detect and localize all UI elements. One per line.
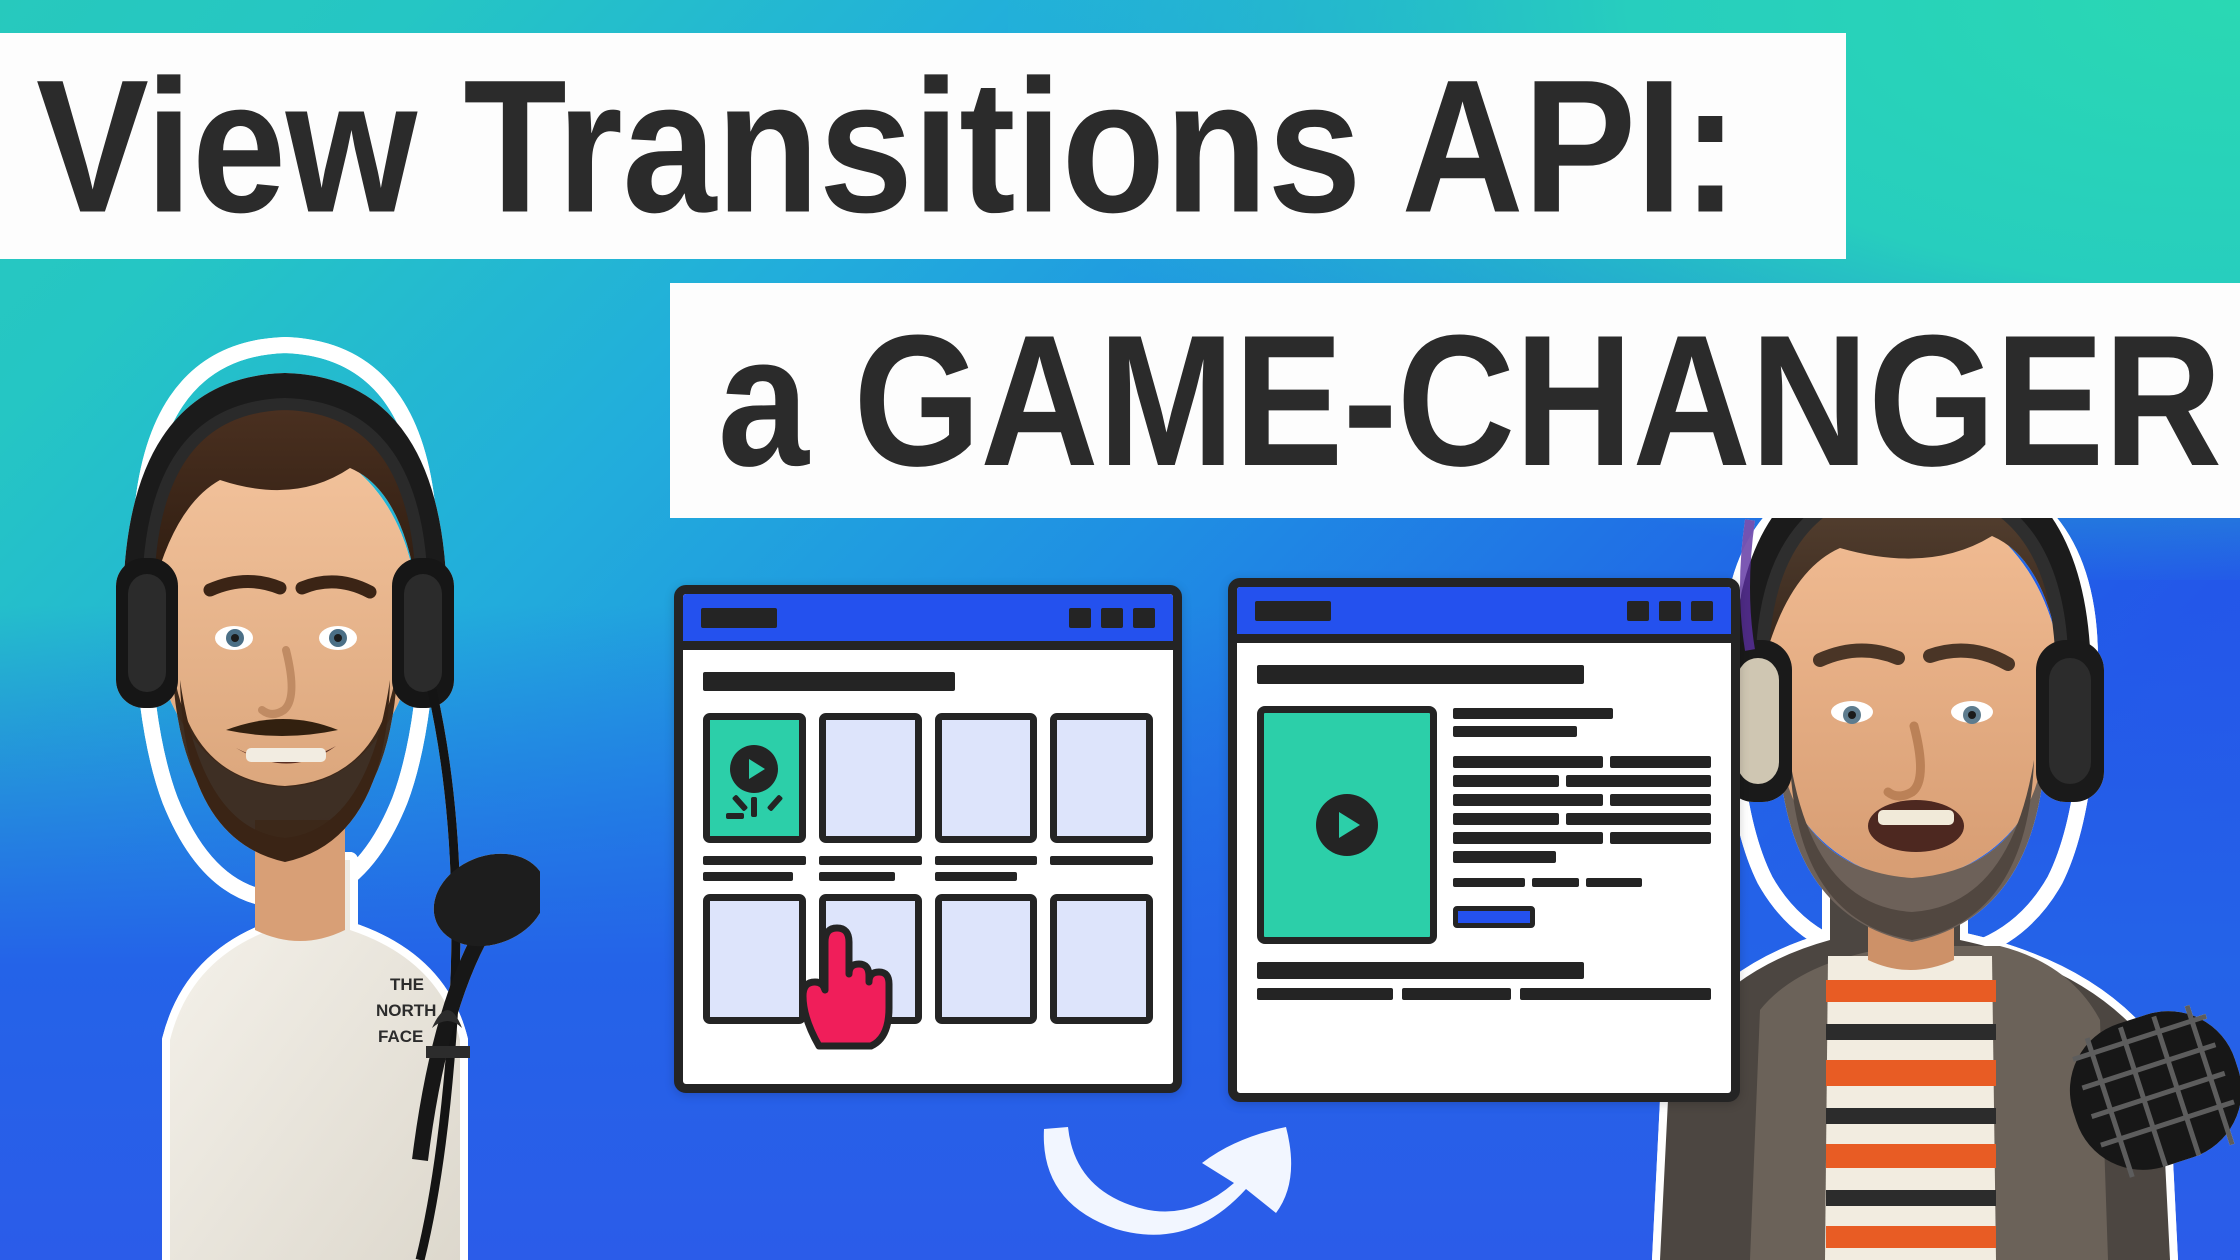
window-minimize-button[interactable] bbox=[1627, 601, 1649, 621]
grid-page-content bbox=[683, 650, 1173, 1084]
card-captions-row-1 bbox=[703, 856, 1153, 881]
card-caption bbox=[703, 856, 806, 881]
grid-card[interactable] bbox=[935, 894, 1038, 1024]
title-banner-line-2: a GAME-CHANGER bbox=[670, 283, 2240, 518]
article-footer bbox=[1257, 962, 1711, 1000]
window-maximize-button[interactable] bbox=[1101, 608, 1123, 628]
article-cta-button[interactable] bbox=[1453, 906, 1535, 928]
browser-tab-pill[interactable] bbox=[1255, 601, 1331, 621]
grid-card[interactable] bbox=[1050, 894, 1153, 1024]
svg-text:NORTH: NORTH bbox=[376, 1001, 436, 1020]
footer-row bbox=[1257, 988, 1711, 1000]
card-caption bbox=[935, 856, 1038, 881]
text-line bbox=[1453, 813, 1711, 825]
click-burst-ray bbox=[767, 795, 784, 812]
article-text-column bbox=[1453, 706, 1711, 944]
card-caption bbox=[1050, 856, 1153, 881]
transition-arrow bbox=[1030, 1105, 1320, 1255]
window-controls[interactable] bbox=[1627, 601, 1713, 621]
text-line bbox=[1453, 832, 1711, 844]
article-body bbox=[1257, 706, 1711, 944]
browser-tab-pill[interactable] bbox=[701, 608, 777, 628]
text-line bbox=[1453, 756, 1711, 768]
svg-text:FACE: FACE bbox=[378, 1027, 423, 1046]
click-burst-ray bbox=[726, 813, 744, 819]
play-icon[interactable] bbox=[1316, 794, 1378, 856]
curved-arrow-up-right-icon bbox=[1044, 1127, 1291, 1235]
click-burst-ray bbox=[731, 795, 748, 812]
page-title-line-1: View Transitions API: bbox=[36, 51, 1738, 240]
title-banner-line-1: View Transitions API: bbox=[0, 33, 1846, 259]
text-line bbox=[1453, 708, 1613, 719]
card-grid-row-1 bbox=[703, 713, 1153, 843]
page-title-line-2: a GAME-CHANGER bbox=[718, 307, 2222, 494]
window-close-button[interactable] bbox=[1133, 608, 1155, 628]
page-heading-placeholder bbox=[703, 672, 955, 691]
click-burst-ray bbox=[751, 797, 757, 817]
article-video-player[interactable] bbox=[1257, 706, 1437, 944]
detail-page-content bbox=[1237, 643, 1731, 1093]
text-line bbox=[1453, 878, 1711, 887]
grid-card-video-highlighted[interactable] bbox=[703, 713, 806, 843]
grid-listing-window[interactable] bbox=[674, 585, 1182, 1093]
window-controls[interactable] bbox=[1069, 608, 1155, 628]
card-grid-row-2 bbox=[703, 894, 1153, 1024]
grid-card[interactable] bbox=[819, 713, 922, 843]
host-left-illustration: THE NORTH FACE bbox=[20, 160, 540, 1260]
window-close-button[interactable] bbox=[1691, 601, 1713, 621]
grid-card[interactable] bbox=[1050, 713, 1153, 843]
browser-chrome-bar bbox=[1237, 587, 1731, 643]
article-heading-placeholder bbox=[1257, 665, 1584, 684]
host-left-portrait: THE NORTH FACE bbox=[20, 160, 540, 1260]
card-caption bbox=[819, 856, 922, 881]
text-line bbox=[1453, 851, 1556, 863]
svg-text:THE: THE bbox=[390, 975, 424, 994]
hand-pointer-cursor bbox=[791, 912, 897, 1050]
text-line bbox=[1453, 775, 1711, 787]
browser-chrome-bar bbox=[683, 594, 1173, 650]
text-line bbox=[1453, 726, 1577, 737]
window-maximize-button[interactable] bbox=[1659, 601, 1681, 621]
text-line bbox=[1453, 794, 1711, 806]
footer-heading-placeholder bbox=[1257, 962, 1584, 979]
window-minimize-button[interactable] bbox=[1069, 608, 1091, 628]
detail-article-window[interactable] bbox=[1228, 578, 1740, 1102]
grid-card[interactable] bbox=[935, 713, 1038, 843]
play-icon[interactable] bbox=[730, 745, 778, 793]
